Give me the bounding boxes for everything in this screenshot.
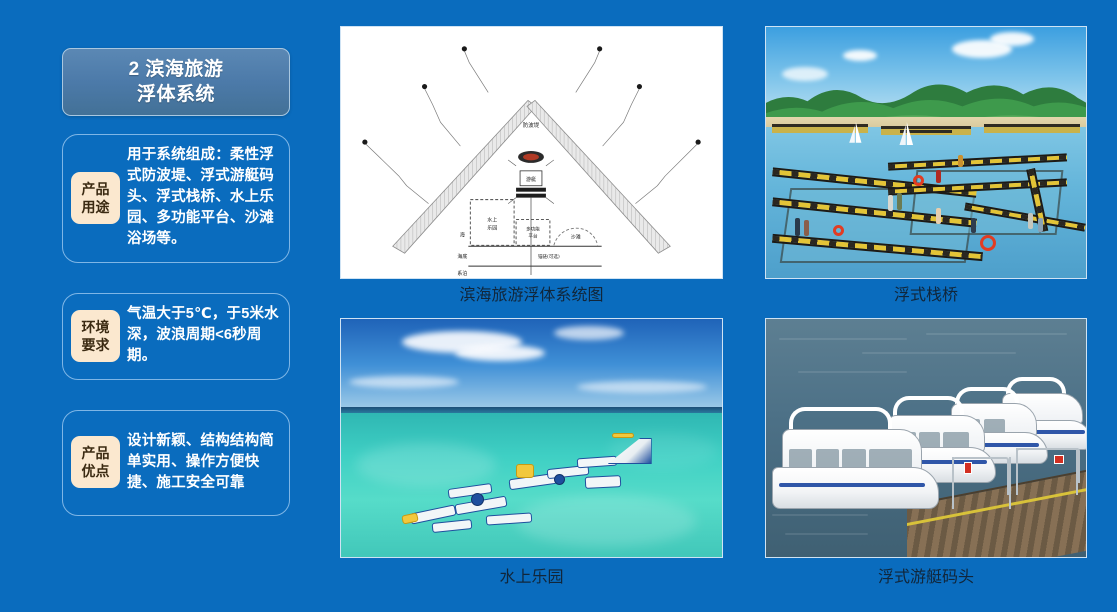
badge-product-use: 产品 用途 — [71, 172, 120, 224]
badge-label-line-2: 优点 — [82, 462, 110, 480]
railing-post — [952, 457, 954, 509]
diagram-label-sea: 海 — [460, 231, 465, 238]
cloud — [577, 381, 707, 393]
svg-text:乐园: 乐园 — [487, 224, 497, 231]
section-title-line-2: 浮体系统 — [137, 82, 215, 107]
ripple — [772, 514, 868, 516]
ripple — [785, 533, 868, 535]
info-card-body-environment: 气温大于5℃，于5米水深，波浪周期<6秒周期。 — [127, 304, 280, 367]
info-card-advantages: 产品 优点 设计新颖、结构结构简单实用、操作方便快捷、施工安全可靠 — [62, 410, 290, 516]
ripple — [779, 338, 907, 340]
system-schematic-svg: 防波堤 — [341, 27, 722, 278]
panel-floating-trestle — [765, 26, 1087, 279]
badge-label-line-2: 要求 — [82, 336, 110, 354]
diagram-label-yacht: 游艇 — [526, 176, 536, 183]
visitor — [888, 195, 893, 211]
dock-railing — [1016, 448, 1080, 484]
caption-floating-trestle: 浮式栈桥 — [765, 284, 1087, 306]
badge-environment: 环境 要求 — [71, 310, 120, 362]
diagram-label-mooring: 系泊 — [457, 270, 467, 277]
cloud — [349, 376, 459, 388]
reef-patch — [516, 495, 696, 547]
dock-railing — [952, 457, 1010, 495]
visitor — [897, 193, 902, 210]
railing-post — [1009, 457, 1011, 509]
cloud — [843, 50, 877, 61]
info-card-product-use: 产品 用途 用于系统组成：柔性浮式防波堤、浮式游艇码头、浮式栈桥、水上乐园、多功… — [62, 134, 290, 263]
section-title-card: 2 滨海旅游 浮体系统 — [62, 48, 290, 116]
trestle-illustration — [766, 27, 1086, 278]
inflatable-ring — [471, 493, 484, 506]
visitor — [936, 170, 941, 183]
visitor — [1028, 213, 1033, 229]
shore-structures — [470, 200, 550, 246]
moored-boat-foreground — [772, 409, 938, 509]
slide-top-rail — [612, 433, 634, 438]
marina-frame — [765, 318, 1087, 558]
waterpark-frame — [340, 318, 723, 558]
diagram-label-seabed: 海底 — [457, 253, 467, 260]
marina-illustration — [766, 319, 1086, 557]
badge-label-line-1: 产品 — [82, 180, 110, 198]
anchor-symbols — [362, 46, 700, 144]
boat-hull — [772, 467, 938, 509]
reef-patch — [356, 443, 496, 487]
dock-sign — [964, 462, 972, 474]
left-info-column: 2 滨海旅游 浮体系统 产品 用途 用于系统组成：柔性浮式防波堤、浮式游艇码头、… — [62, 48, 290, 516]
badge-advantages: 产品 优点 — [71, 436, 120, 488]
info-card-body-advantages: 设计新颖、结构结构简单实用、操作方便快捷、施工安全可靠 — [127, 431, 280, 494]
visitor — [804, 220, 809, 236]
trestle-frame — [765, 26, 1087, 279]
visitor — [936, 208, 941, 224]
railing-post — [1016, 448, 1018, 496]
visitor — [958, 155, 963, 167]
visitor — [971, 218, 976, 233]
diagram-label-waterpark: 水上 — [487, 216, 497, 223]
splash-pad — [585, 475, 622, 489]
diagram-label-platform: 多功能 — [526, 225, 540, 232]
cloud — [990, 32, 1034, 46]
visitor — [1038, 218, 1043, 232]
svg-text:平台: 平台 — [528, 232, 538, 239]
waterpark-illustration — [341, 319, 722, 557]
dock-sign — [1054, 455, 1064, 464]
slide-root: 2 滨海旅游 浮体系统 产品 用途 用于系统组成：柔性浮式防波堤、浮式游艇码头、… — [0, 0, 1117, 612]
sailboat — [894, 122, 920, 147]
panel-yacht-marina — [765, 318, 1087, 558]
visitor — [795, 218, 800, 236]
section-title-line-1: 2 滨海旅游 — [129, 57, 224, 82]
diagram-label-breakwater: 防波堤 — [523, 121, 540, 129]
badge-label-line-2: 用途 — [82, 198, 110, 216]
badge-label-line-1: 环境 — [82, 318, 110, 336]
caption-water-park: 水上乐园 — [340, 566, 723, 588]
info-card-body-product-use: 用于系统组成：柔性浮式防波堤、浮式游艇码头、浮式栈桥、水上乐园、多功能平台、沙滩… — [127, 145, 280, 250]
boat-stripe — [779, 483, 925, 487]
diagram-label-anchor: 锚链(可选) — [538, 253, 560, 260]
diagram-frame: 防波堤 — [340, 26, 723, 279]
ripple — [926, 333, 1067, 335]
panel-water-park — [340, 318, 723, 558]
inflatable-ring — [554, 474, 565, 485]
caption-system-diagram: 滨海旅游浮体系统图 — [340, 284, 723, 306]
caption-yacht-marina: 浮式游艇码头 — [765, 566, 1087, 588]
badge-label-line-1: 产品 — [82, 444, 110, 462]
sky — [341, 319, 722, 409]
panel-system-diagram: 防波堤 — [340, 26, 723, 279]
railing-post — [1076, 448, 1078, 496]
inflatable-tower — [516, 464, 534, 478]
far-dock — [984, 124, 1080, 133]
info-card-environment: 环境 要求 气温大于5℃，于5米水深，波浪周期<6秒周期。 — [62, 293, 290, 380]
diagram-label-beach: 沙滩 — [571, 233, 581, 240]
sailboat — [843, 122, 869, 145]
yacht-and-berth: 游艇 — [508, 151, 554, 204]
ripple — [862, 352, 1016, 354]
